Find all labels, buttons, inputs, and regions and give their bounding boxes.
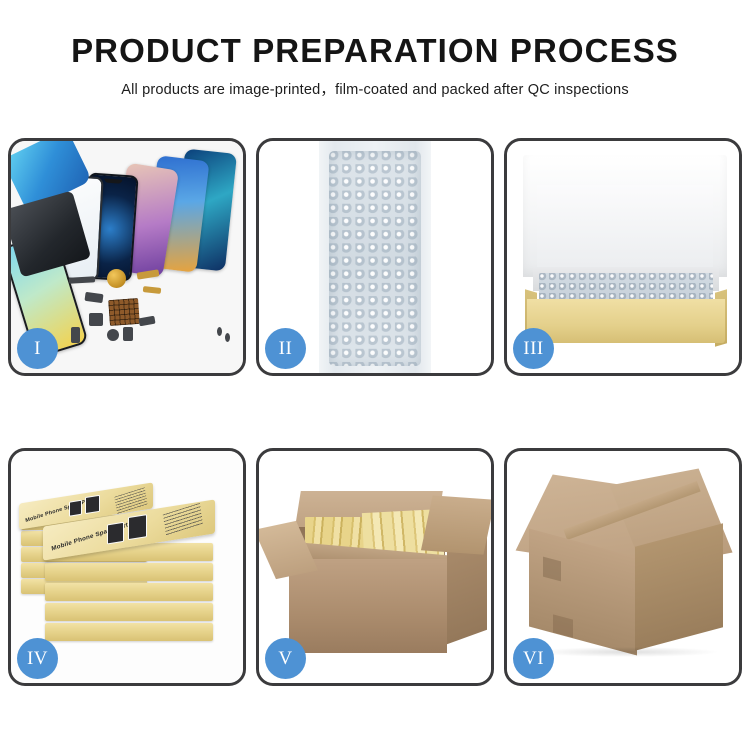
- page-subtitle: All products are image-printed，film-coat…: [0, 78, 750, 99]
- step-panel-4: Mobile Phone Spare Parts Mobile Phone Sp…: [8, 448, 246, 686]
- step-badge-2: II: [265, 328, 306, 369]
- spare-part-screw-1: [217, 327, 222, 336]
- step-badge-4: IV: [17, 638, 58, 679]
- spare-part-sim-tray: [71, 327, 80, 343]
- box-screen-graphic-4: [128, 514, 147, 540]
- step-badge-3: III: [513, 328, 554, 369]
- step-badge-5: V: [265, 638, 306, 679]
- bubble-wrapped-contents: [539, 273, 713, 301]
- box-spec-lines-front: [163, 503, 203, 536]
- step-panel-3: III: [504, 138, 742, 376]
- spare-part-flex-2: [84, 292, 103, 303]
- sealed-carton-side-face: [635, 523, 723, 651]
- phone-notch-icon: [104, 178, 122, 183]
- connector-array-part: [108, 298, 140, 326]
- step-badge-1: I: [17, 328, 58, 369]
- stacked-box-front-5: [45, 623, 213, 641]
- step-panel-2: II: [256, 138, 494, 376]
- carton-ground-shadow: [537, 647, 717, 657]
- header: PRODUCT PREPARATION PROCESS All products…: [0, 0, 750, 99]
- box-screen-graphic-3: [107, 522, 124, 545]
- step-panel-6: VI: [504, 448, 742, 686]
- step-panel-1: I: [8, 138, 246, 376]
- vibration-motor-part: [107, 269, 126, 288]
- spare-part-gold-flex-2: [143, 286, 162, 294]
- product-preparation-infographic: PRODUCT PREPARATION PROCESS All products…: [0, 0, 750, 750]
- process-steps-grid: I II III: [8, 138, 742, 686]
- inner-box-lid-panel: [537, 185, 713, 267]
- spare-part-button: [123, 327, 133, 341]
- box-screen-graphic-2: [85, 495, 100, 514]
- step-badge-6: VI: [513, 638, 554, 679]
- page-title: PRODUCT PREPARATION PROCESS: [0, 34, 750, 69]
- stacked-box-front-4: [45, 603, 213, 621]
- carton-right-flap: [421, 495, 491, 554]
- stacked-box-front-3: [45, 583, 213, 601]
- spare-part-screw-2: [225, 333, 230, 342]
- spare-part-flex-1: [69, 276, 95, 283]
- spare-part-camera: [89, 313, 103, 326]
- bubble-wrapped-product: [329, 151, 421, 366]
- inner-box-front-wall: [527, 299, 725, 343]
- box-screen-graphic-1: [69, 500, 82, 517]
- stacked-box-front-2: [45, 563, 213, 581]
- spare-part-flex-3: [138, 316, 155, 327]
- carton-front-face: [289, 559, 447, 653]
- spare-part-speaker: [107, 329, 119, 341]
- step-panel-5: V: [256, 448, 494, 686]
